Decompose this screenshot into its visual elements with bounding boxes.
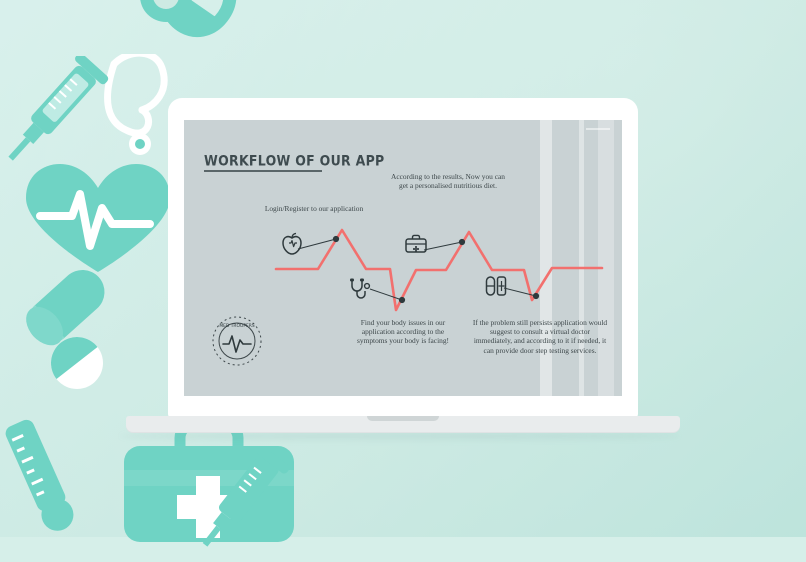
tablet-pill-decoration	[22, 318, 132, 408]
syringe-decoration-bottom	[176, 452, 316, 562]
pills-capsule-icon	[484, 274, 508, 303]
laptop-mockup: WORKFLOW OF OUR APP	[168, 98, 638, 438]
stethoscope-icon	[348, 277, 372, 306]
brand-logo-text: MED TROOPERS	[219, 323, 254, 329]
apple-health-icon	[280, 232, 304, 261]
step-2-caption: Find your body issues in our application…	[350, 318, 456, 346]
laptop-screen: WORKFLOW OF OUR APP	[184, 120, 622, 396]
step-1-caption: Login/Register to our application	[260, 204, 368, 213]
brand-logo: MED TROOPERS	[208, 312, 266, 370]
screenshot-canvas: WORKFLOW OF OUR APP	[0, 0, 806, 537]
first-aid-kit-icon	[404, 232, 428, 261]
step-4-caption: If the problem still persists applicatio…	[472, 318, 608, 355]
laptop-base-notch	[367, 416, 439, 421]
step-3-caption: According to the results, Now you can ge…	[388, 172, 508, 190]
thermometer-decoration	[0, 406, 110, 536]
